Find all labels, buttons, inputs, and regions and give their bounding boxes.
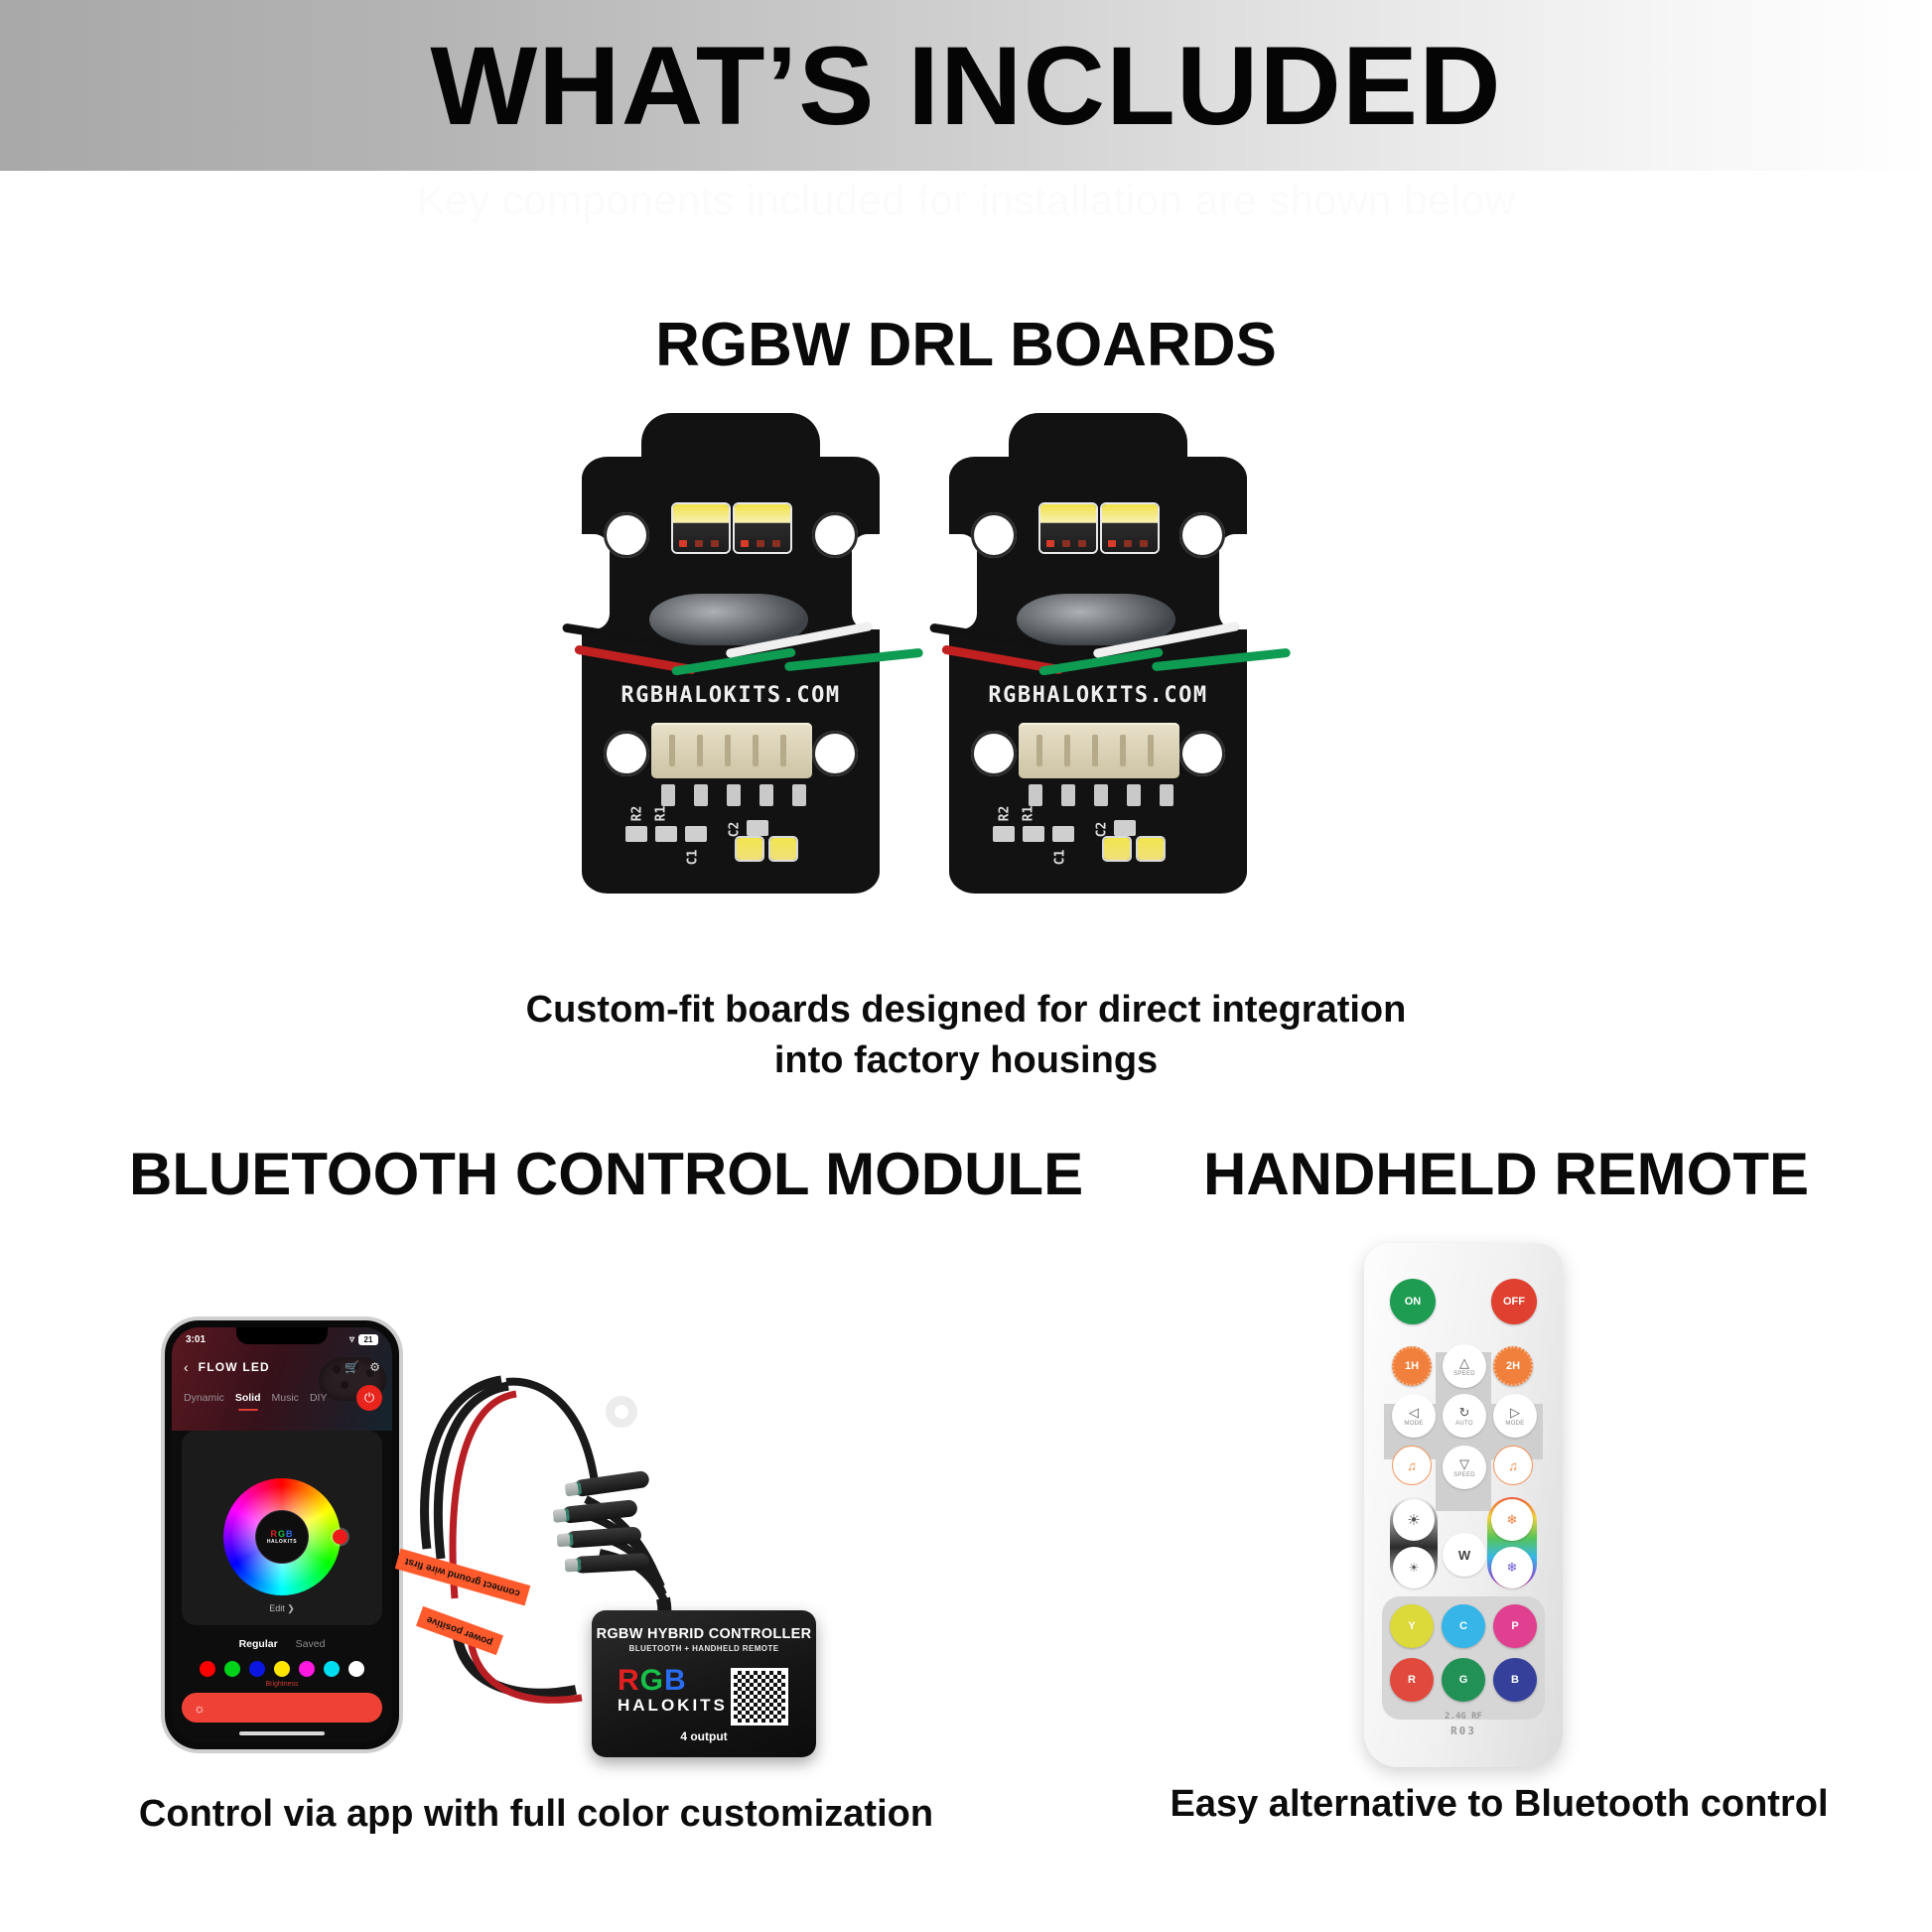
bottom-led (1138, 838, 1164, 860)
rgbw-led-module (735, 504, 790, 552)
speed-down-label: SPEED (1453, 1472, 1475, 1478)
section-title-drl-boards: RGBW DRL BOARDS (0, 310, 1932, 380)
waterproof-connector (561, 1499, 637, 1524)
component-label-r1: R1 (653, 806, 668, 822)
hub-logo-sub: HALOKITS (267, 1539, 297, 1545)
remote-button-auto[interactable]: ↻ AUTO (1443, 1394, 1486, 1438)
controller-title: RGBW HYBRID CONTROLLER (592, 1626, 816, 1642)
controller-logo-rgb: RGB (618, 1666, 728, 1696)
mounting-hole (1179, 512, 1225, 558)
triangle-down-icon: ▽ (1459, 1456, 1469, 1472)
auto-label: AUTO (1455, 1421, 1473, 1427)
tab-solid[interactable]: Solid (235, 1392, 261, 1404)
triangle-right-icon: ▷ (1510, 1405, 1520, 1421)
remote-button-on[interactable]: ON (1390, 1279, 1436, 1324)
rgbw-led-module (1102, 504, 1158, 552)
sun-dim-icon: ☀ (1409, 1561, 1420, 1575)
brightness-label: Brightness (172, 1681, 392, 1688)
component-label-r2: R2 (629, 806, 644, 822)
remote-button-warm-palette[interactable]: ❄ (1491, 1499, 1533, 1541)
board-top-tab (641, 413, 820, 473)
board-notch-right (852, 534, 882, 629)
waterproof-connector (574, 1553, 650, 1574)
remote-button-purple[interactable]: P (1493, 1604, 1537, 1648)
caption-handheld-remote: Easy alternative to Bluetooth control (1072, 1783, 1926, 1826)
jst-connector (651, 723, 812, 778)
remote-button-cool-palette[interactable]: ❄ (1491, 1547, 1533, 1588)
triangle-up-icon: △ (1459, 1355, 1469, 1371)
preset-area: Regular Saved (182, 1637, 382, 1697)
sun-bright-icon: ☀ (1407, 1511, 1420, 1529)
controller-subtitle: BLUETOOTH + HANDHELD REMOTE (592, 1644, 816, 1653)
home-indicator (239, 1731, 325, 1735)
remote-button-red[interactable]: R (1390, 1658, 1434, 1702)
hub-logo-rgb: RGB (270, 1529, 293, 1539)
caption-drl-line1: Custom-fit boards designed for direct in… (526, 989, 1407, 1031)
phone-screen: 3:01 ▿ 21 ‹ FLOW LED 🛒 ⚙ ⏻ Dynamic Solid… (172, 1327, 392, 1742)
board-brand-text: RGBHALOKITS.COM (582, 683, 880, 708)
page-subtitle: Key components included for installation… (0, 177, 1932, 224)
cart-icon[interactable]: 🛒 (345, 1360, 359, 1374)
smd-capacitor (747, 820, 768, 836)
controller-logo-sub: HALOKITS (618, 1696, 728, 1716)
battery-indicator: 21 (358, 1334, 378, 1345)
remote-button-timer-2h[interactable]: 2H (1493, 1346, 1533, 1386)
smd-resistor (1023, 826, 1044, 842)
component-label-c1: C1 (1052, 850, 1067, 866)
page-title: WHAT’S INCLUDED (0, 22, 1932, 150)
controller-logo: RGB HALOKITS (618, 1666, 728, 1716)
waterproof-connector (573, 1470, 650, 1497)
waterproof-connector (565, 1526, 641, 1548)
color-wheel-hub: RGB HALOKITS (256, 1511, 308, 1563)
controller-output-label: 4 output (592, 1729, 816, 1743)
remote-markings: 2.4G RF R03 (1364, 1712, 1563, 1737)
remote-button-speed-down[interactable]: ▽ SPEED (1443, 1446, 1486, 1489)
drl-board-right: RGBHALOKITS.COM R2 R1 C1 C2 (949, 457, 1247, 894)
bottom-led (737, 838, 762, 860)
jst-connector (1019, 723, 1179, 778)
mounting-hole (971, 512, 1017, 558)
smd-capacitor (1114, 820, 1136, 836)
board-notch-left (580, 534, 610, 629)
section-title-bluetooth-module: BLUETOOTH CONTROL MODULE (129, 1140, 1083, 1208)
remote-button-off[interactable]: OFF (1491, 1279, 1537, 1324)
board-notch-left (947, 534, 977, 629)
cool-color-palette-icon: ❄ (1507, 1560, 1518, 1576)
color-swatch-row (182, 1661, 382, 1677)
swatch-green[interactable] (224, 1661, 240, 1677)
app-navigation-bar: ‹ FLOW LED 🛒 ⚙ (172, 1353, 392, 1381)
component-label-r2: R2 (997, 806, 1012, 822)
rgbw-hybrid-controller: RGBW HYBRID CONTROLLER BLUETOOTH + HANDH… (592, 1610, 816, 1757)
remote-button-brightness-down[interactable]: ☀ (1393, 1547, 1435, 1588)
mounting-hole (812, 512, 858, 558)
caption-drl-boards: Custom-fit boards designed for direct in… (0, 985, 1932, 1087)
wifi-icon: ▿ (349, 1334, 354, 1345)
preset-tab-saved[interactable]: Saved (296, 1638, 326, 1650)
bottom-led (770, 838, 796, 860)
status-time: 3:01 (186, 1334, 206, 1345)
tab-music[interactable]: Music (272, 1392, 299, 1404)
color-wheel-knob[interactable] (333, 1530, 347, 1545)
handheld-remote: ON OFF 1H 2H △ SPEED ◁ MODE ↻ AUTO ▷ MOD… (1364, 1243, 1563, 1767)
board-top-tab (1009, 413, 1187, 473)
chevron-left-icon[interactable]: ‹ (184, 1359, 189, 1375)
auto-rotate-icon: ↻ (1459, 1405, 1470, 1421)
speed-up-label: SPEED (1453, 1371, 1475, 1377)
qr-code-icon (731, 1668, 788, 1725)
remote-button-green[interactable]: G (1442, 1658, 1485, 1702)
app-title: FLOW LED (199, 1360, 270, 1374)
gear-icon[interactable]: ⚙ (369, 1360, 380, 1374)
remote-button-mode-left[interactable]: ◁ MODE (1392, 1394, 1436, 1438)
smd-resistor (993, 826, 1015, 842)
tab-diy[interactable]: DIY (310, 1392, 328, 1404)
smd-resistor (625, 826, 647, 842)
edit-link[interactable]: Edit ❯ (182, 1603, 382, 1614)
warm-color-palette-icon: ❄ (1507, 1512, 1518, 1528)
ring-terminal (606, 1396, 637, 1428)
component-label-c2: C2 (1094, 822, 1109, 838)
phone-status-bar: 3:01 ▿ 21 (172, 1330, 392, 1348)
swatch-cyan[interactable] (324, 1661, 340, 1677)
smd-resistor (685, 826, 707, 842)
component-label-c2: C2 (727, 822, 742, 838)
smd-resistor (655, 826, 677, 842)
power-icon[interactable]: ⏻ (356, 1385, 382, 1411)
marking-model: R03 (1364, 1725, 1563, 1737)
rgbw-led-module (673, 504, 729, 552)
rgbw-led-module (1040, 504, 1096, 552)
swatch-red[interactable] (200, 1661, 215, 1677)
solder-pads (1029, 784, 1173, 806)
board-brand-text: RGBHALOKITS.COM (949, 683, 1247, 708)
remote-button-white[interactable]: W (1443, 1533, 1486, 1577)
smartphone-mockup: 3:01 ▿ 21 ‹ FLOW LED 🛒 ⚙ ⏻ Dynamic Solid… (165, 1320, 399, 1749)
remote-button-yellow[interactable]: Y (1390, 1604, 1434, 1648)
board-notch-right (1219, 534, 1249, 629)
mounting-hole (812, 731, 858, 776)
color-wheel[interactable]: RGB HALOKITS (223, 1478, 341, 1595)
caption-bluetooth-module: Control via app with full color customiz… (60, 1793, 1013, 1836)
drl-board-left: RGBHALOKITS.COM R2 R1 C1 C2 (582, 457, 880, 894)
preset-tab-regular[interactable]: Regular (239, 1638, 278, 1650)
swatch-white[interactable] (348, 1661, 364, 1677)
mode-right-label: MODE (1505, 1421, 1524, 1427)
remote-button-cyan[interactable]: C (1442, 1604, 1485, 1648)
remote-button-speed-up[interactable]: △ SPEED (1443, 1344, 1486, 1388)
preset-tabs: Regular Saved (182, 1638, 382, 1650)
triangle-left-icon: ◁ (1409, 1405, 1419, 1421)
marking-rf: 2.4G RF (1445, 1712, 1482, 1722)
component-label-c1: C1 (685, 850, 700, 866)
caption-drl-line2: into factory housings (774, 1039, 1158, 1081)
brightness-slider[interactable]: ☼ (182, 1693, 382, 1723)
mounting-hole (604, 512, 649, 558)
music-note-minus-icon[interactable]: ♫ (1392, 1446, 1432, 1485)
tab-dynamic[interactable]: Dynamic (184, 1392, 224, 1404)
output-connectors (556, 1469, 685, 1588)
swatch-blue[interactable] (249, 1661, 265, 1677)
smd-resistor (1052, 826, 1074, 842)
solder-pads (661, 784, 806, 806)
remote-button-brightness-up[interactable]: ☀ (1393, 1499, 1435, 1541)
mode-left-label: MODE (1404, 1421, 1423, 1427)
swatch-magenta[interactable] (299, 1661, 315, 1677)
mounting-hole (604, 731, 649, 776)
mounting-hole (971, 731, 1017, 776)
remote-button-timer-1h[interactable]: 1H (1392, 1346, 1432, 1386)
remote-button-blue[interactable]: B (1493, 1658, 1537, 1702)
color-picker-card: RGB HALOKITS Edit ❯ (182, 1431, 382, 1625)
sun-icon: ☼ (194, 1701, 206, 1716)
music-note-plus-icon[interactable]: ♫ (1493, 1446, 1533, 1485)
component-label-r1: R1 (1021, 806, 1035, 822)
remote-button-mode-right[interactable]: ▷ MODE (1493, 1394, 1537, 1438)
mounting-hole (1179, 731, 1225, 776)
bottom-led (1104, 838, 1130, 860)
section-title-handheld-remote: HANDHELD REMOTE (1203, 1140, 1809, 1208)
swatch-yellow[interactable] (274, 1661, 290, 1677)
